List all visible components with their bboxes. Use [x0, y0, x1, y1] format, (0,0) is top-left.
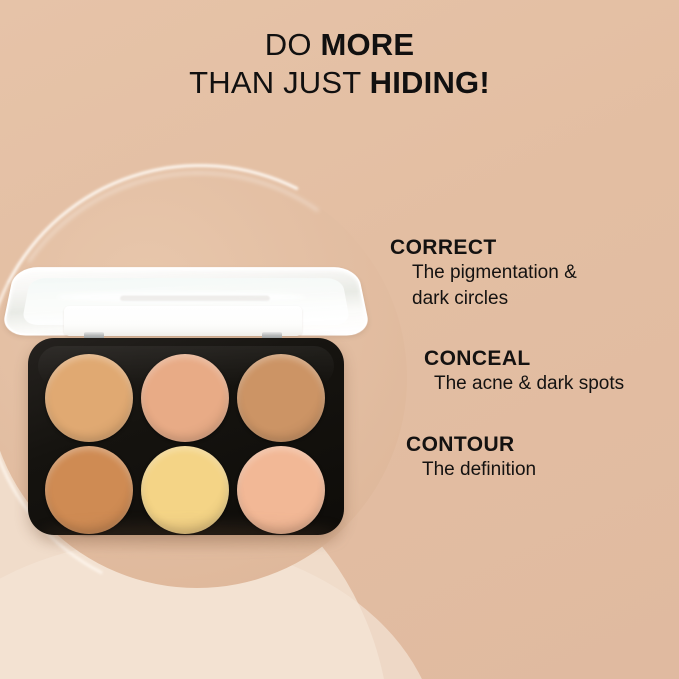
headline-line-1-bold: MORE: [320, 27, 414, 62]
headline-line-1: DO MORE: [0, 26, 679, 64]
benefits-list: CORRECT The pigmentation & dark circles …: [386, 236, 679, 482]
benefit-contour-description: The definition: [422, 457, 679, 482]
palette-lid-brand-imprint: [120, 296, 270, 301]
benefit-correct: CORRECT The pigmentation & dark circles: [386, 236, 679, 311]
concealer-palette: [0, 250, 400, 550]
product-shadow: [40, 524, 340, 546]
benefit-conceal: CONCEAL The acne & dark spots: [386, 347, 679, 397]
palette-pan-bottom-right: [237, 446, 325, 534]
benefit-contour-title: CONTOUR: [406, 433, 679, 457]
headline-line-2-bold: HIDING!: [370, 65, 490, 100]
benefit-correct-title: CORRECT: [390, 236, 679, 260]
headline-line-1-regular: DO: [265, 27, 321, 62]
palette-pan-bottom-left: [45, 446, 133, 534]
benefit-correct-description: The pigmentation & dark circles: [412, 260, 679, 311]
headline-line-2-regular: THAN JUST: [189, 65, 370, 100]
palette-pan-top-left: [45, 354, 133, 442]
palette-pan-top-right: [237, 354, 325, 442]
benefit-contour: CONTOUR The definition: [386, 433, 679, 483]
palette-base: [28, 338, 344, 535]
palette-pan-top-center: [141, 354, 229, 442]
headline-line-2: THAN JUST HIDING!: [0, 64, 679, 102]
palette-pan-grid: [45, 354, 327, 534]
marketing-image: DO MORE THAN JUST HIDING! CO: [0, 0, 679, 679]
palette-pan-bottom-center: [141, 446, 229, 534]
benefit-conceal-description: The acne & dark spots: [434, 371, 679, 396]
headline: DO MORE THAN JUST HIDING!: [0, 26, 679, 103]
benefit-conceal-title: CONCEAL: [424, 347, 679, 371]
